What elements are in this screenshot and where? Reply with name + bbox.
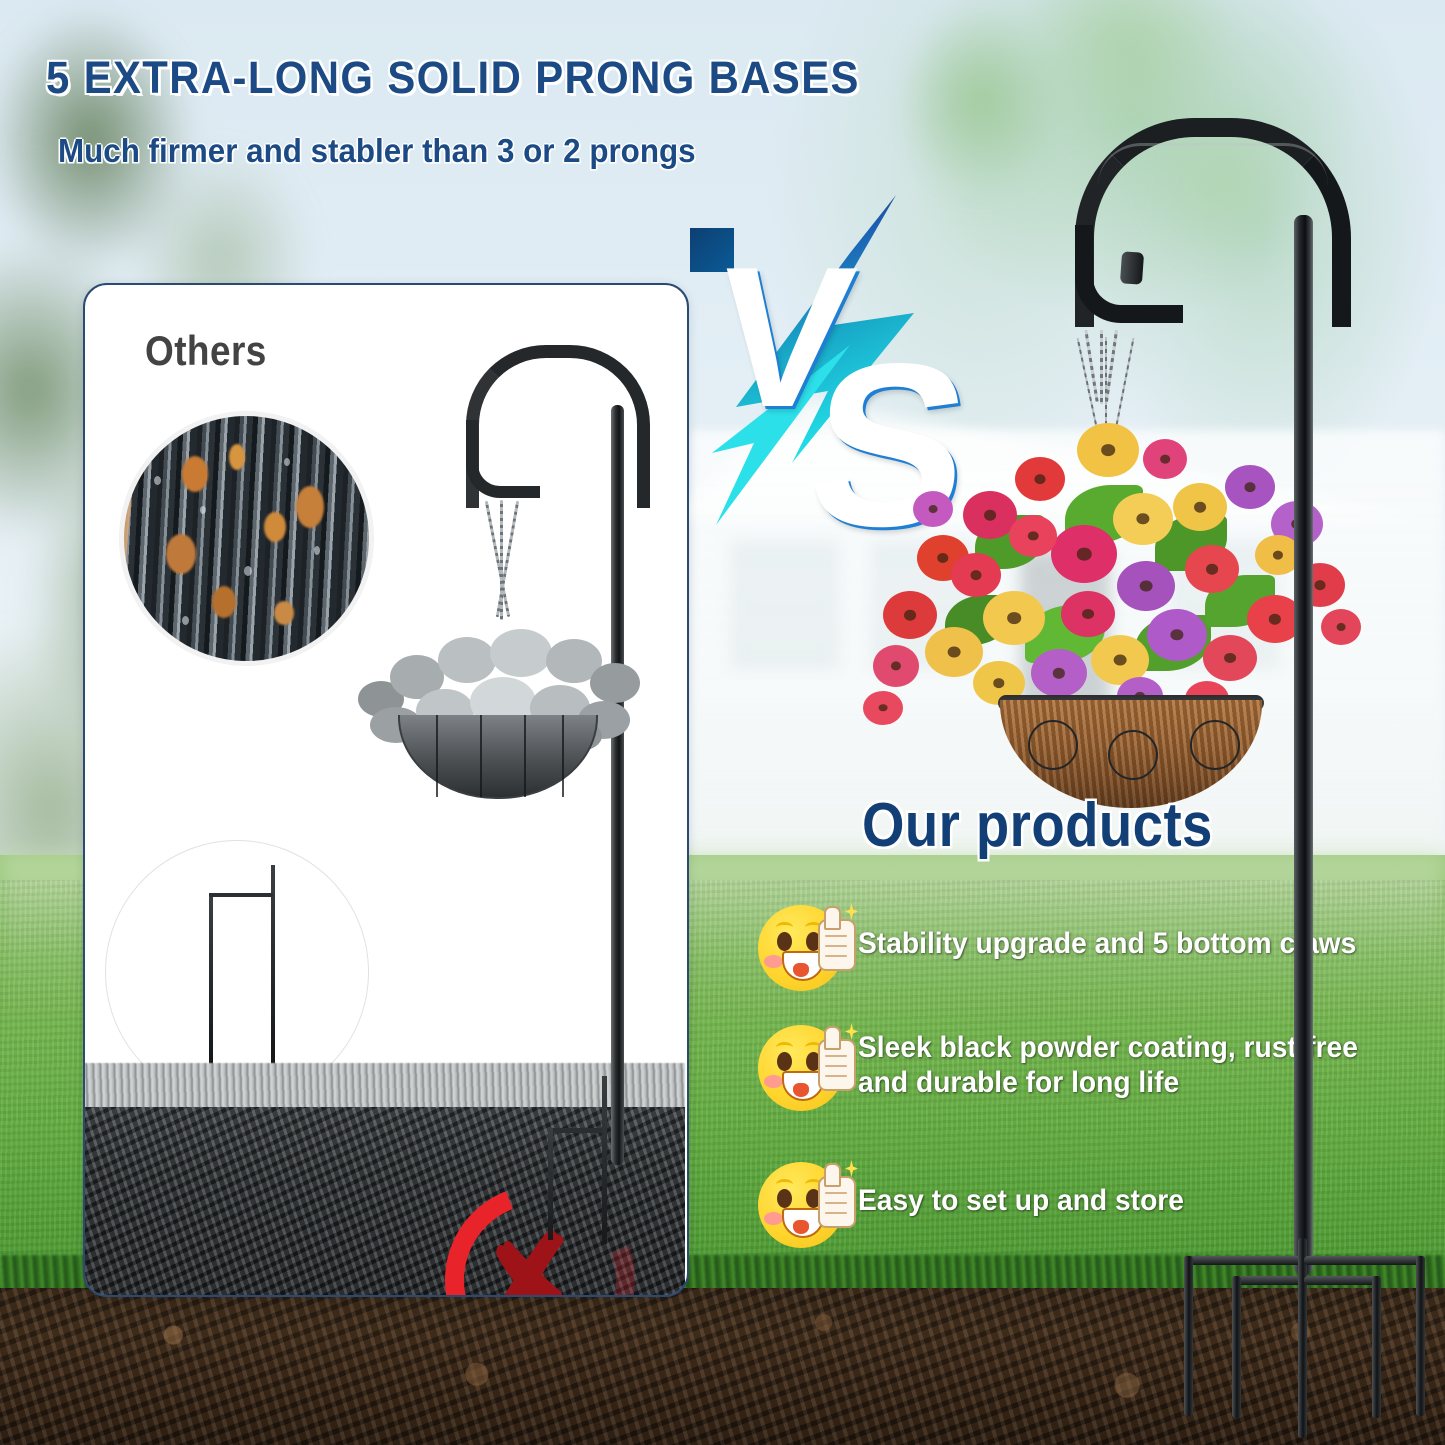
feature-text: Stability upgrade and 5 bottom claws xyxy=(858,905,1356,962)
rusty-poles-inset xyxy=(120,412,373,665)
two-prong-stake-icon xyxy=(209,865,305,1070)
feature-item: Easy to set up and store xyxy=(758,1162,1358,1248)
our-products-label: Our products xyxy=(862,790,1213,861)
product-pole xyxy=(1294,215,1313,1275)
feature-text: Easy to set up and store xyxy=(858,1162,1184,1219)
smiley-thumbs-up-icon xyxy=(758,905,844,991)
feature-text: Sleek black powder coating, rust-free an… xyxy=(858,1025,1358,1101)
product-infographic: 5 EXTRA-LONG SOLID PRONG BASES Much firm… xyxy=(0,0,1445,1445)
five-prong-base xyxy=(1176,1238,1438,1445)
smiley-thumbs-up-icon xyxy=(758,1162,844,1248)
page-title: 5 EXTRA-LONG SOLID PRONG BASES xyxy=(46,52,883,104)
product-hook-tip xyxy=(1120,251,1144,284)
others-hook-tip xyxy=(466,420,540,498)
others-pole xyxy=(611,405,624,1165)
others-label: Others xyxy=(145,327,267,375)
product-flower-basket xyxy=(855,395,1395,795)
others-two-prong-base xyxy=(548,1128,626,1268)
product-chain xyxy=(1100,330,1103,404)
smiley-thumbs-up-icon xyxy=(758,1025,844,1111)
page-subtitle: Much firmer and stabler than 3 or 2 pron… xyxy=(58,132,913,170)
